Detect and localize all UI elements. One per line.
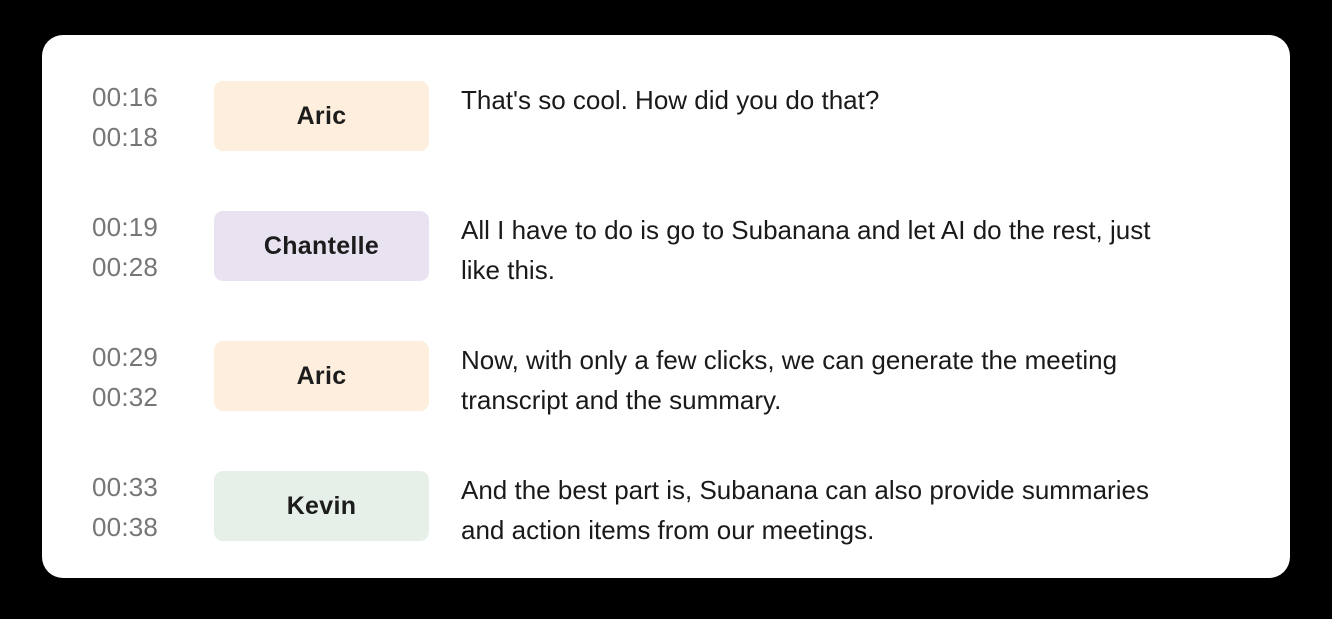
- speaker-badge-kevin[interactable]: Kevin: [214, 471, 429, 541]
- speaker-name-label: Kevin: [287, 492, 357, 521]
- timestamp-end: 00:18: [92, 117, 202, 157]
- timestamp-range: 00:16 00:18: [92, 76, 202, 157]
- timestamp-range: 00:19 00:28: [92, 206, 202, 287]
- speaker-name-label: Chantelle: [264, 232, 379, 261]
- timestamp-start: 00:29: [92, 337, 202, 377]
- timestamp-end: 00:38: [92, 507, 202, 547]
- table-row[interactable]: 00:33 00:38 Kevin And the best part is, …: [42, 466, 1290, 578]
- table-row[interactable]: 00:29 00:32 Aric Now, with only a few cl…: [42, 336, 1290, 466]
- utterance-text[interactable]: And the best part is, Subanana can also …: [429, 466, 1229, 550]
- timestamp-start: 00:16: [92, 77, 202, 117]
- timestamp-range: 00:33 00:38: [92, 466, 202, 547]
- speaker-badge-chantelle[interactable]: Chantelle: [214, 211, 429, 281]
- transcript-row-list: 00:16 00:18 Aric That's so cool. How did…: [42, 76, 1290, 578]
- timestamp-start: 00:19: [92, 207, 202, 247]
- screen-background: 00:16 00:18 Aric That's so cool. How did…: [0, 0, 1332, 619]
- utterance-text[interactable]: That's so cool. How did you do that?: [429, 76, 1229, 120]
- utterance-text[interactable]: All I have to do is go to Subanana and l…: [429, 206, 1229, 290]
- timestamp-end: 00:28: [92, 247, 202, 287]
- utterance-text[interactable]: Now, with only a few clicks, we can gene…: [429, 336, 1229, 420]
- speaker-badge-aric[interactable]: Aric: [214, 341, 429, 411]
- speaker-name-label: Aric: [297, 362, 347, 391]
- timestamp-range: 00:29 00:32: [92, 336, 202, 417]
- speaker-badge-aric[interactable]: Aric: [214, 81, 429, 151]
- timestamp-end: 00:32: [92, 377, 202, 417]
- table-row[interactable]: 00:19 00:28 Chantelle All I have to do i…: [42, 206, 1290, 336]
- timestamp-start: 00:33: [92, 467, 202, 507]
- speaker-name-label: Aric: [297, 102, 347, 131]
- table-row[interactable]: 00:16 00:18 Aric That's so cool. How did…: [42, 76, 1290, 206]
- transcript-card: 00:16 00:18 Aric That's so cool. How did…: [42, 35, 1290, 578]
